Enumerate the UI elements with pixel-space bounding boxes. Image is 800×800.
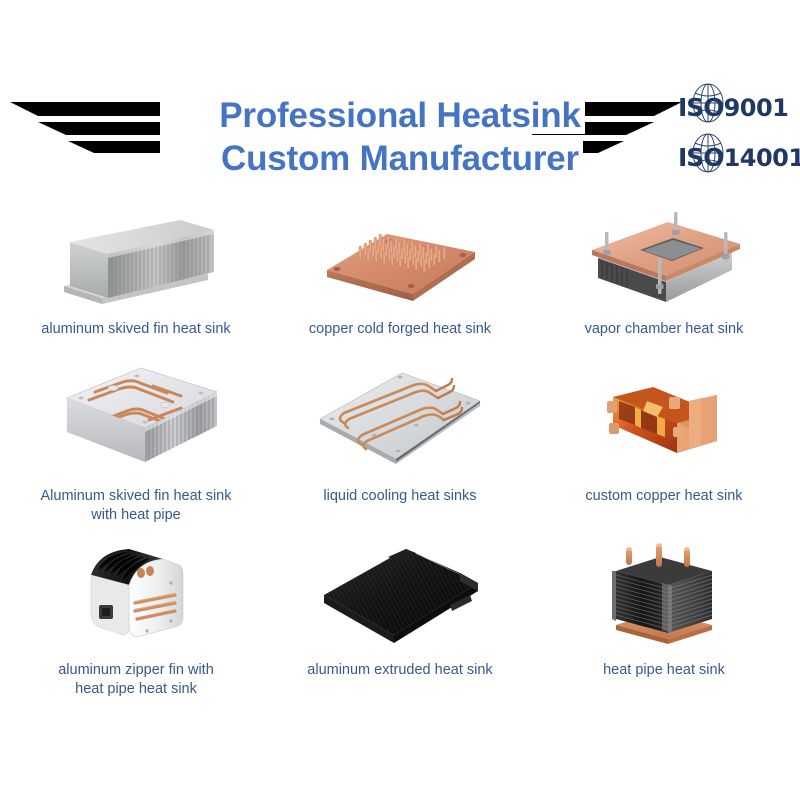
product-row-3: aluminum zipper fin with heat pipe heat …	[4, 539, 796, 711]
product-label: custom copper heat sink	[540, 487, 788, 539]
custom-copper-heat-sink-image	[589, 365, 739, 470]
product-card-custom-copper[interactable]: custom copper heat sink	[532, 360, 796, 539]
product-card-copper-cold-forged[interactable]: copper cold forged heat sink	[268, 208, 532, 360]
liquid-cooling-heat-sink-image	[310, 363, 490, 473]
product-label-line-2: heat pipe heat sink	[12, 680, 260, 699]
product-thumbnail-wrap	[532, 360, 796, 475]
product-label: Aluminum skived fin heat sink with heat …	[12, 487, 260, 539]
product-label: copper cold forged heat sink	[276, 320, 524, 360]
product-thumbnail-wrap	[268, 360, 532, 475]
product-label: aluminum extruded heat sink	[276, 661, 524, 711]
certification-badges: ISO9001 ISO14001	[676, 84, 796, 180]
product-card-zipper-fin[interactable]: aluminum zipper fin with heat pipe heat …	[4, 539, 268, 711]
iso-14001-badge: ISO14001	[676, 134, 796, 180]
copper-cold-forged-heat-sink-image	[315, 208, 485, 308]
page-title: Professional Heatsink Custom Manufacture…	[165, 97, 635, 177]
product-thumbnail-wrap	[4, 360, 268, 475]
product-label: liquid cooling heat sinks	[276, 487, 524, 539]
iso-9001-badge: ISO9001	[676, 84, 796, 130]
product-label-line-2: with heat pipe	[12, 506, 260, 525]
product-row-1: aluminum skived fin heat sink	[4, 208, 796, 360]
vapor-chamber-heat-sink-image	[574, 206, 754, 311]
product-label: heat pipe heat sink	[540, 661, 788, 711]
product-thumbnail-wrap	[268, 208, 532, 308]
title-line-2: Custom Manufacturer	[217, 140, 583, 177]
title-line-1: Professional Heatsink	[215, 97, 585, 134]
product-thumbnail-wrap	[268, 539, 532, 651]
product-thumbnail-wrap	[532, 208, 796, 308]
product-label: vapor chamber heat sink	[540, 320, 788, 360]
iso-14001-label: ISO14001	[676, 143, 800, 172]
product-thumbnail-wrap	[4, 208, 268, 308]
product-thumbnail-wrap	[532, 539, 796, 651]
product-label: aluminum skived fin heat sink	[12, 320, 260, 360]
header-banner: Professional Heatsink Custom Manufacture…	[0, 72, 800, 202]
product-card-aluminum-skived-fin[interactable]: aluminum skived fin heat sink	[4, 208, 268, 360]
heat-pipe-heat-sink-image	[594, 541, 734, 649]
aluminum-skived-fin-with-heat-pipe-image	[41, 362, 231, 474]
product-label: aluminum zipper fin with heat pipe heat …	[12, 661, 260, 711]
product-grid: aluminum skived fin heat sink	[0, 208, 800, 711]
aluminum-skived-fin-heat-sink-image	[56, 208, 216, 308]
product-thumbnail-wrap	[4, 539, 268, 651]
aluminum-extruded-heat-sink-image	[310, 543, 490, 648]
aluminum-zipper-fin-heat-pipe-image	[71, 541, 201, 649]
product-label-line-1: aluminum zipper fin with	[12, 661, 260, 680]
product-showcase-page: Professional Heatsink Custom Manufacture…	[0, 72, 800, 800]
product-card-aluminum-extruded[interactable]: aluminum extruded heat sink	[268, 539, 532, 711]
speed-wing-left-icon	[10, 94, 160, 160]
product-card-skived-fin-heat-pipe[interactable]: Aluminum skived fin heat sink with heat …	[4, 360, 268, 539]
product-card-heat-pipe-tower[interactable]: heat pipe heat sink	[532, 539, 796, 711]
product-row-2: Aluminum skived fin heat sink with heat …	[4, 360, 796, 539]
product-label-line-1: Aluminum skived fin heat sink	[12, 487, 260, 506]
product-card-vapor-chamber[interactable]: vapor chamber heat sink	[532, 208, 796, 360]
iso-9001-label: ISO9001	[676, 93, 788, 122]
product-card-liquid-cooling[interactable]: liquid cooling heat sinks	[268, 360, 532, 539]
